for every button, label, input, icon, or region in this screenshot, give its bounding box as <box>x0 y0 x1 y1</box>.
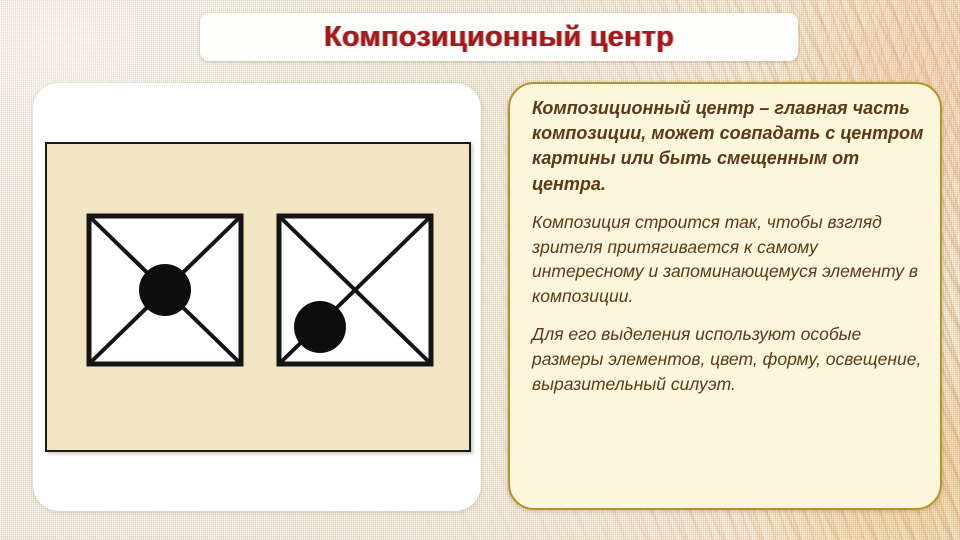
composition-center-dot-centered <box>139 264 191 316</box>
diagram-panel <box>33 83 481 511</box>
slide-root: Композиционный центр <box>0 0 960 540</box>
figure-square-offset-dot <box>279 216 431 364</box>
paragraph-body-1: Композиция строится так, чтобы взгляд зр… <box>532 210 924 309</box>
paragraph-lead: Композиционный центр – главная часть ком… <box>532 96 924 197</box>
diagram-canvas <box>45 142 471 452</box>
composition-center-diagram <box>47 144 473 454</box>
paragraph-body-2: Для его выделения используют особые разм… <box>532 322 924 397</box>
slide-title-plate: Композиционный центр <box>200 13 798 61</box>
page-title: Композиционный центр <box>324 21 674 54</box>
composition-center-dot-offset <box>294 301 346 353</box>
figure-square-centered-dot <box>89 216 241 364</box>
description-panel: Композиционный центр – главная часть ком… <box>508 82 942 510</box>
